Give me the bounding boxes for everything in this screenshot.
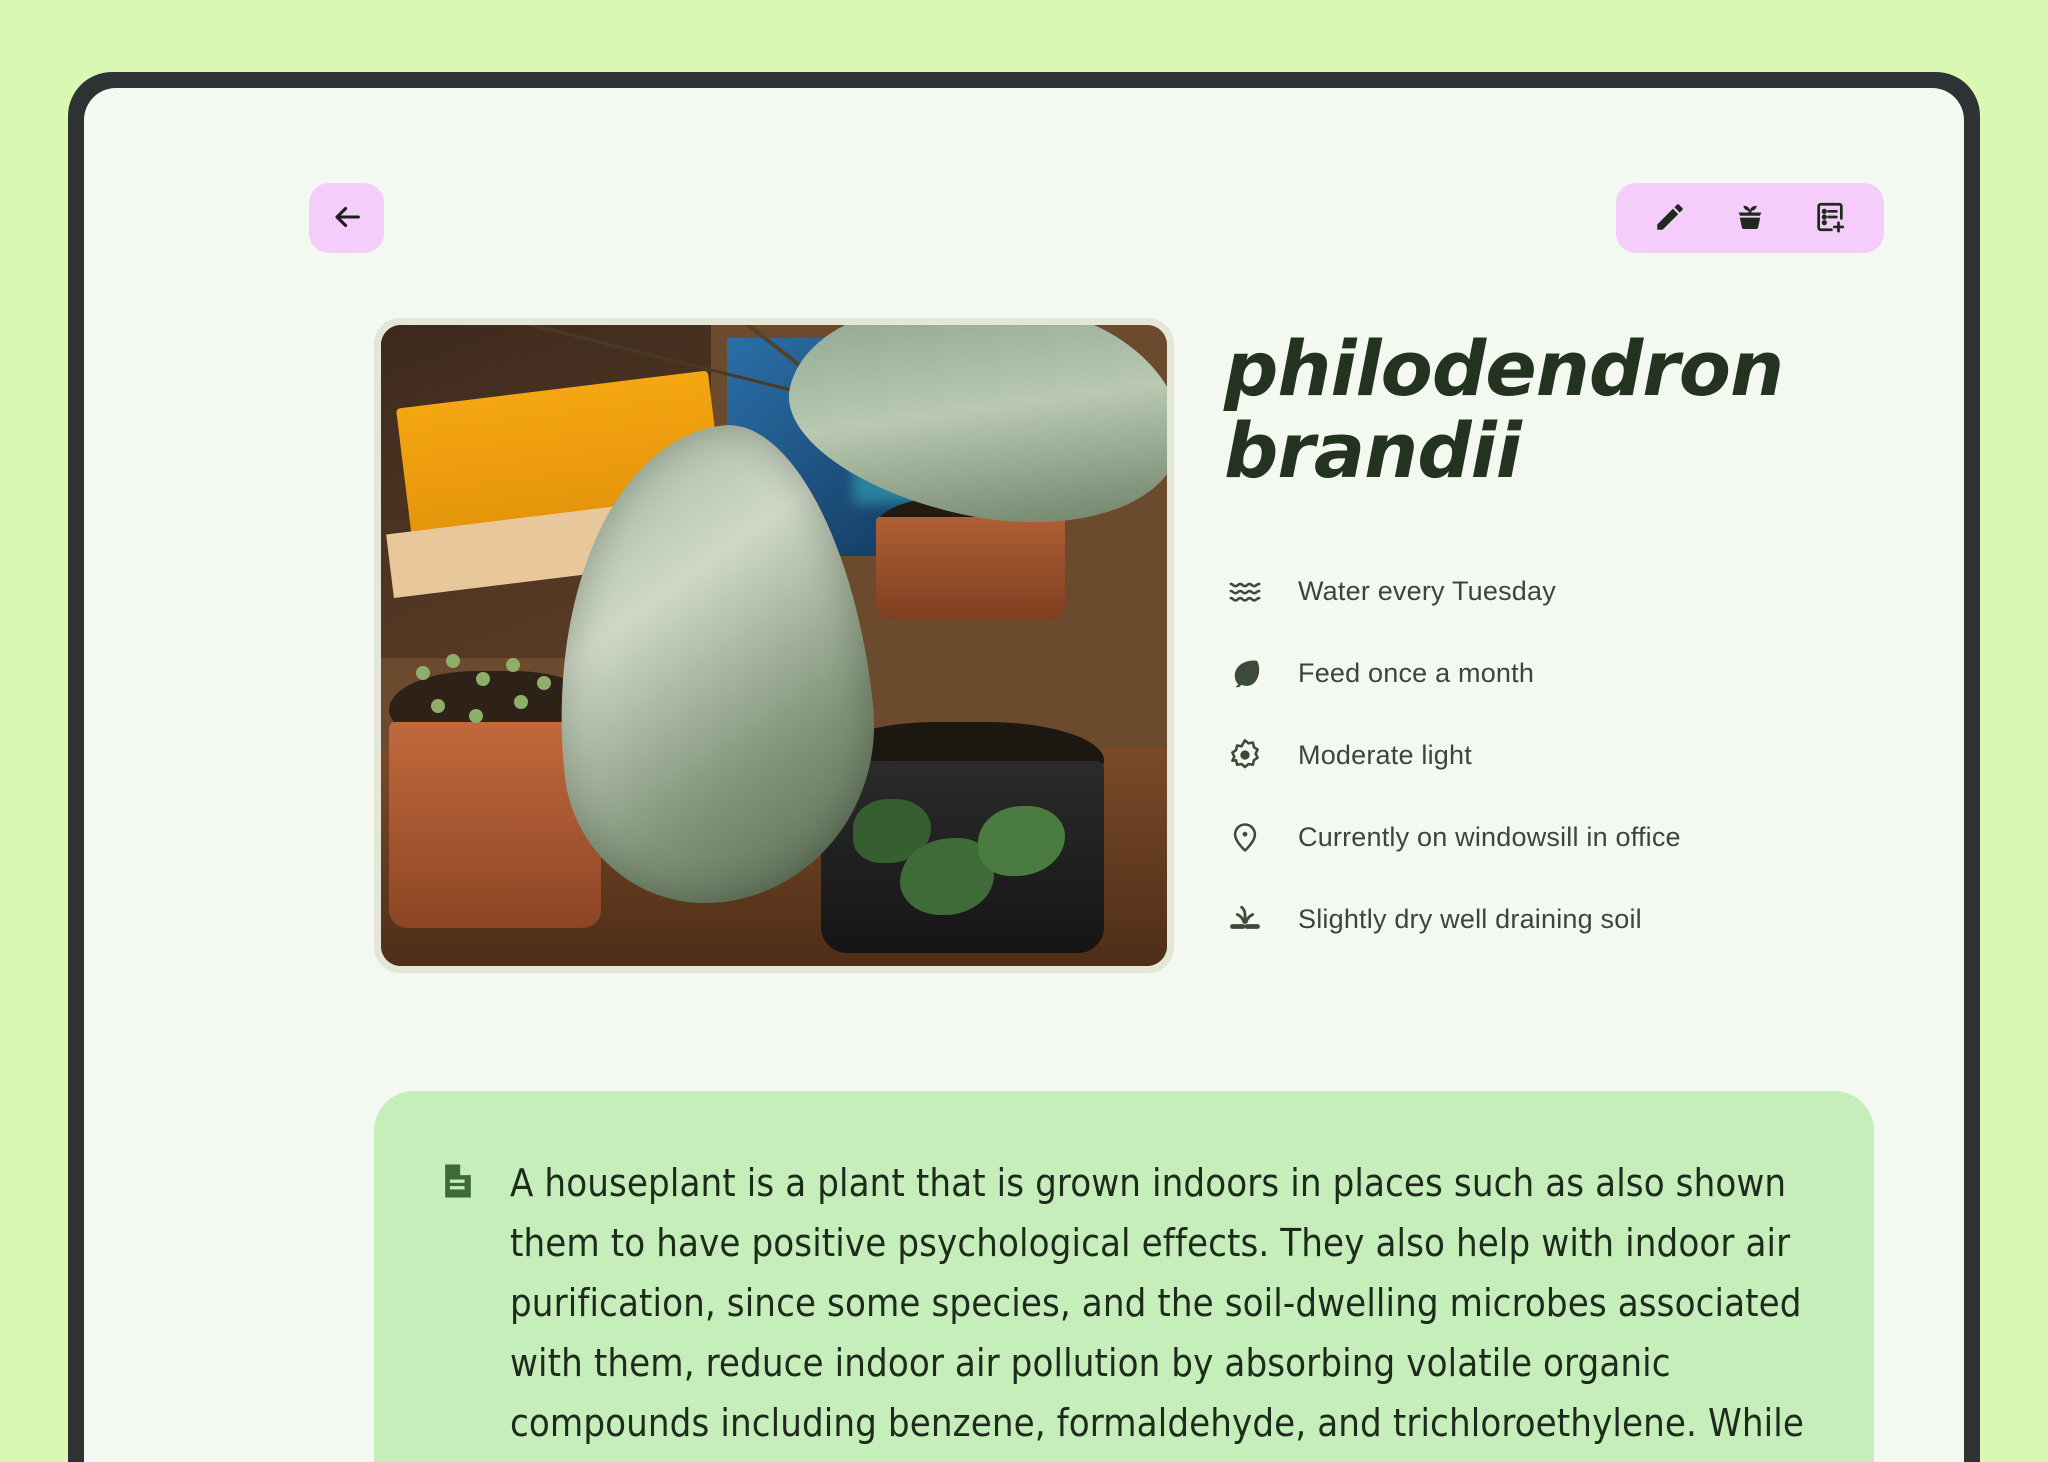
hero-info: philodendron brandii Water every Tuesday: [1224, 318, 1884, 960]
attribute-water: Water every Tuesday: [1224, 550, 1884, 632]
attribute-feed: Feed once a month: [1224, 632, 1884, 714]
note-add-icon: [1813, 200, 1847, 237]
sprout-soil-icon: [1224, 898, 1266, 940]
attribute-label: Currently on windowsill in office: [1298, 822, 1681, 853]
device-frame: philodendron brandii Water every Tuesday: [68, 72, 1980, 1462]
attribute-label: Moderate light: [1298, 740, 1472, 771]
map-pin-icon: [1224, 816, 1266, 858]
edit-button[interactable]: [1648, 196, 1692, 240]
attribute-location: Currently on windowsill in office: [1224, 796, 1884, 878]
attribute-soil: Slightly dry well draining soil: [1224, 878, 1884, 960]
add-note-button[interactable]: [1808, 196, 1852, 240]
plant-photo-frame[interactable]: [374, 318, 1174, 973]
repot-button[interactable]: [1728, 196, 1772, 240]
document-icon: [436, 1159, 480, 1203]
back-button[interactable]: [309, 183, 384, 253]
description-text: A houseplant is a plant that is grown in…: [510, 1153, 1804, 1462]
attribute-label: Feed once a month: [1298, 658, 1534, 689]
leaf-icon: [1224, 652, 1266, 694]
attribute-light: Moderate light: [1224, 714, 1884, 796]
app-screen: philodendron brandii Water every Tuesday: [84, 88, 1964, 1462]
potted-plant-icon: [1732, 199, 1768, 238]
arrow-left-icon: [330, 200, 364, 237]
top-bar: [84, 88, 1964, 318]
sun-icon: [1224, 734, 1266, 776]
plant-photo: [381, 325, 1167, 966]
plant-attribute-list: Water every Tuesday Feed once a month: [1224, 550, 1884, 960]
description-card: A houseplant is a plant that is grown in…: [374, 1091, 1874, 1462]
attribute-label: Water every Tuesday: [1298, 576, 1556, 607]
page-title: philodendron brandii: [1224, 328, 1884, 492]
action-toolbar: [1616, 183, 1884, 253]
pencil-icon: [1653, 200, 1687, 237]
attribute-label: Slightly dry well draining soil: [1298, 904, 1642, 935]
water-waves-icon: [1224, 570, 1266, 612]
hero-section: philodendron brandii Water every Tuesday: [84, 318, 1964, 973]
